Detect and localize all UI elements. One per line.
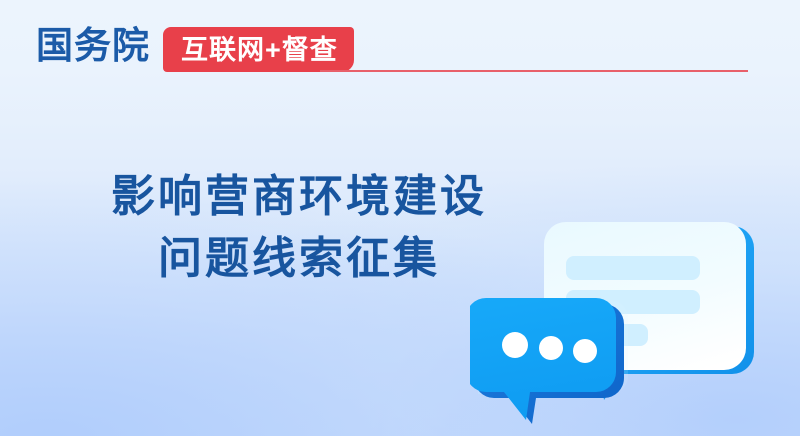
speech-bubbles-illustration — [470, 200, 800, 436]
front-bubble — [470, 298, 624, 424]
campaign-badge-label: 互联网+督查 — [181, 35, 338, 65]
front-bubble-body — [470, 298, 616, 420]
state-council-logo-text: 国务院 — [36, 24, 150, 68]
campaign-banner: 国务院 互联网+督查 影响营商环境建设 问题线索征集 — [0, 0, 800, 436]
back-bubble-text-line-1 — [566, 256, 700, 280]
campaign-badge: 互联网+督查 — [163, 27, 354, 72]
speech-bubbles-svg — [470, 200, 800, 436]
front-bubble-dot-1 — [502, 332, 528, 358]
front-bubble-dot-2 — [539, 336, 563, 360]
front-bubble-dot-3 — [573, 339, 597, 363]
banner-header: 国务院 互联网+督查 — [0, 0, 800, 96]
header-divider-rule — [320, 70, 748, 72]
